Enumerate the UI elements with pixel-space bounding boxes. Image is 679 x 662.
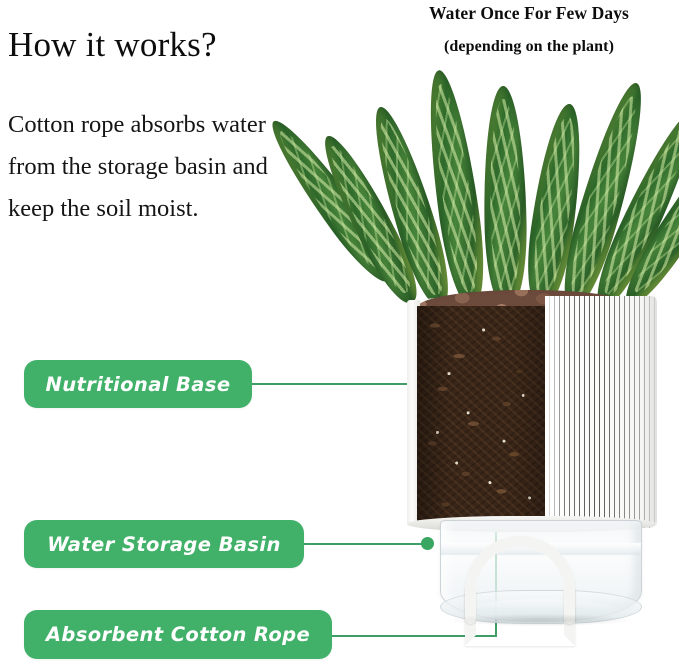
pot-ribbed-surface [545, 296, 657, 528]
cotton-rope-wick [465, 536, 575, 620]
callout-water-storage-basin[interactable]: Water Storage Basin [24, 520, 304, 568]
watering-frequency-header: Water Once For Few Days (depending on th… [379, 0, 679, 60]
plant-leaf [482, 86, 528, 309]
watering-frequency-subtitle: (depending on the plant) [379, 34, 679, 60]
callout-label-water-storage-basin: Water Storage Basin [47, 533, 281, 556]
self-watering-pot [395, 290, 657, 590]
pot-ground-shadow [447, 614, 633, 626]
callout-label-absorbent-cotton-rope: Absorbent Cotton Rope [46, 623, 310, 646]
callout-label-nutritional-base: Nutritional Base [46, 373, 231, 396]
plant-pot-illustration [370, 58, 670, 598]
callout-absorbent-cotton-rope[interactable]: Absorbent Cotton Rope [24, 610, 332, 659]
snake-plant-leaves [370, 58, 670, 320]
watering-frequency-title: Water Once For Few Days [379, 0, 679, 26]
infographic-canvas: How it works? Cotton rope absorbs water … [0, 0, 679, 662]
callout-nutritional-base[interactable]: Nutritional Base [24, 360, 252, 408]
rope-arch [465, 536, 575, 646]
page-title: How it works? [8, 24, 338, 66]
potting-soil-cutaway [417, 306, 545, 524]
